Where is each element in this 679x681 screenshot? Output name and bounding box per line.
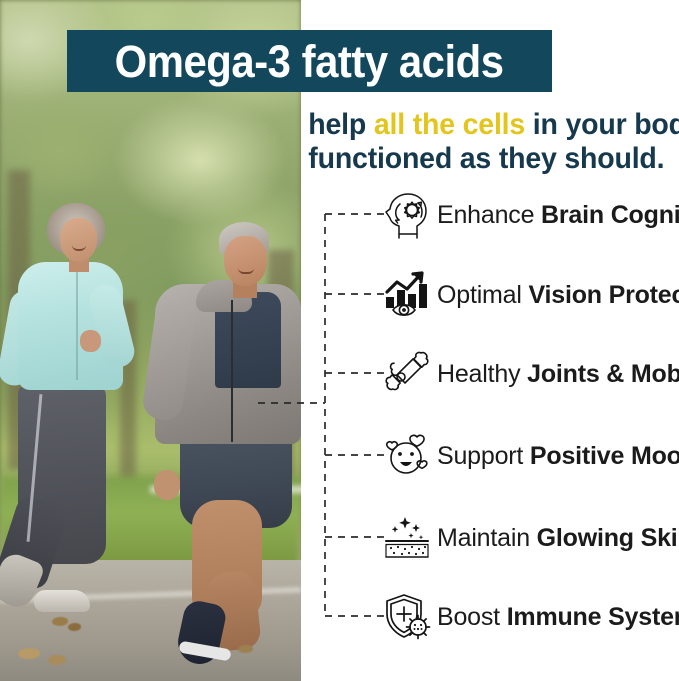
subtitle-line-1: help all the cells in your body: [308, 108, 661, 142]
hero-photo: [0, 0, 301, 681]
benefit-label: Boost Immune System: [437, 605, 679, 630]
benefit-label: Optimal Vision Protection: [437, 283, 679, 308]
benefit-item-immune-system[interactable]: Boost Immune System: [383, 592, 679, 642]
smiling-face-icon: [383, 431, 431, 481]
fallen-leaf: [52, 617, 68, 626]
benefit-label: Healthy Joints & Mobility: [437, 362, 679, 387]
subtitle-highlight: all the cells: [374, 108, 525, 141]
benefit-item-glowing-skin[interactable]: Maintain Glowing Skin: [383, 513, 679, 563]
bone-joint-icon: [383, 349, 431, 399]
benefit-label: Enhance Brain Cognitive: [437, 203, 679, 228]
benefit-label: Support Positive Mood: [437, 444, 679, 469]
headline-banner: Omega-3 fatty acids: [67, 30, 552, 92]
benefit-item-joints-mobility[interactable]: Healthy Joints & Mobility: [383, 349, 679, 399]
man-face: [224, 236, 267, 286]
benefit-item-positive-mood[interactable]: Support Positive Mood: [383, 431, 679, 481]
chart-eye-icon: [383, 270, 431, 320]
fallen-leaf: [238, 645, 253, 653]
woman-jacket-zip: [76, 268, 78, 380]
benefit-label: Maintain Glowing Skin: [437, 526, 679, 551]
fallen-leaf: [18, 648, 40, 659]
subtitle-pre: help: [308, 108, 374, 141]
benefit-item-brain-cognitive[interactable]: Enhance Brain Cognitive: [383, 190, 679, 240]
subtitle: help all the cells in your body function…: [299, 108, 671, 176]
glowing-skin-icon: [383, 513, 431, 563]
brain-gear-icon: [383, 190, 431, 240]
woman-hand: [80, 330, 101, 352]
page-title: Omega-3 fatty acids: [115, 39, 504, 84]
woman-face: [60, 218, 97, 262]
fallen-leaf: [48, 655, 66, 665]
benefit-item-vision-protection[interactable]: Optimal Vision Protection: [383, 270, 679, 320]
fallen-leaf: [68, 623, 81, 631]
subtitle-post: in your body: [525, 108, 679, 141]
man-jacket-zip: [231, 300, 233, 442]
subtitle-line-2: functioned as they should.: [308, 142, 661, 176]
shield-virus-icon: [383, 592, 431, 642]
woman-shoe-front: [34, 590, 90, 612]
man-hand: [154, 470, 180, 500]
